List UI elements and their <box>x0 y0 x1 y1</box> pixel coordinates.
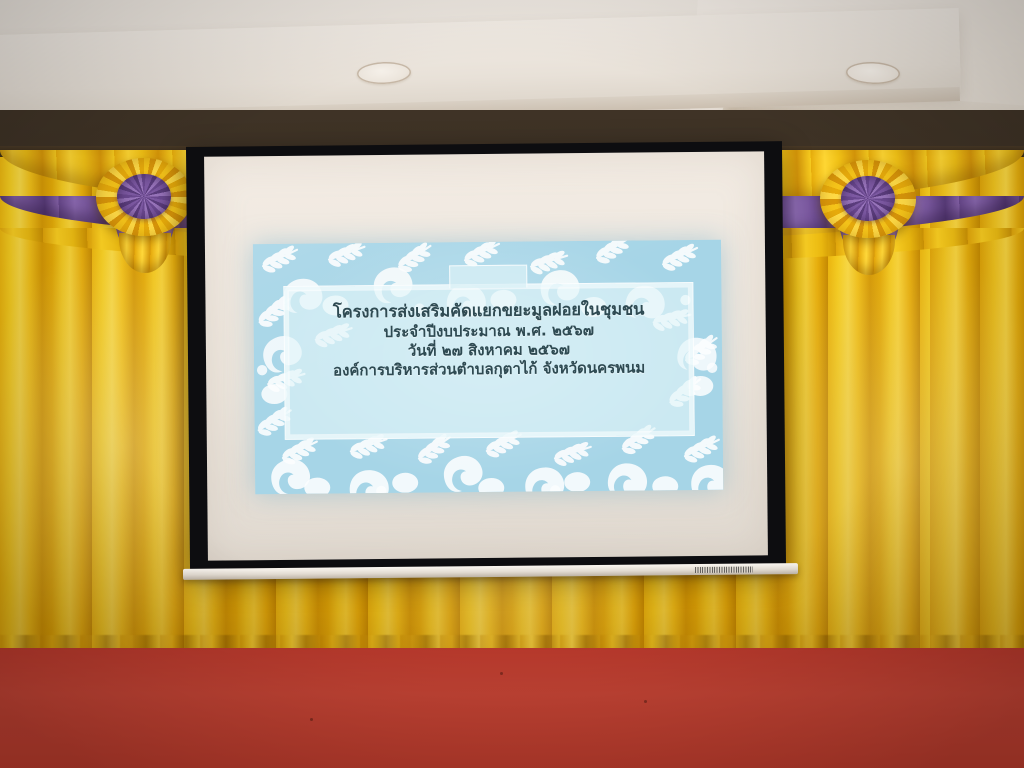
projected-slide: โครงการส่งเสริมคัดแยกขยะมูลฝอยในชุมชน ปร… <box>253 240 723 494</box>
rosette-center-icon <box>117 174 171 219</box>
carpet-speck <box>500 672 503 675</box>
curtain-rosette-left <box>96 158 192 236</box>
projection-screen-surface: โครงการส่งเสริมคัดแยกขยะมูลฝอยในชุมชน ปร… <box>204 151 768 560</box>
slide-text-panel: โครงการส่งเสริมคัดแยกขยะมูลฝอยในชุมชน ปร… <box>283 282 694 440</box>
stage-floor-carpet <box>0 648 1024 768</box>
rosette-center-icon <box>841 176 895 221</box>
scene-root: โครงการส่งเสริมคัดแยกขยะมูลฝอยในชุมชน ปร… <box>0 0 1024 768</box>
slide-panel-tab <box>449 265 527 289</box>
carpet-speck <box>310 718 313 721</box>
carpet-speck <box>644 700 647 703</box>
asset-tag-barcode-icon <box>695 566 753 573</box>
curtain-rosette-right <box>820 160 916 238</box>
slide-organization-line: องค์การบริหารส่วนตำบลกุตาไก้ จังหวัดนครพ… <box>285 358 693 381</box>
slide-title-line: โครงการส่งเสริมคัดแยกขยะมูลฝอยในชุมชน <box>284 299 692 324</box>
slide-text-block: โครงการส่งเสริมคัดแยกขยะมูลฝอยในชุมชน ปร… <box>284 299 693 380</box>
projection-screen[interactable]: โครงการส่งเสริมคัดแยกขยะมูลฝอยในชุมชน ปร… <box>186 141 786 571</box>
